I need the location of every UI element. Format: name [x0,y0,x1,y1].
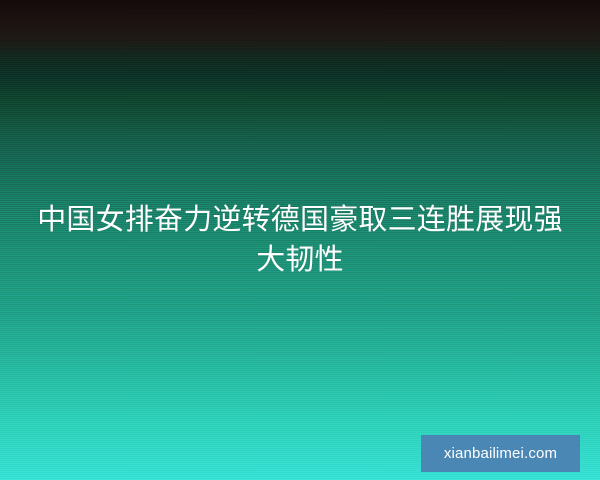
watermark-label: xianbailimei.com [444,446,557,461]
headline-block: 中国女排奋力逆转德国豪取三连胜展现强大韧性 [0,200,600,280]
watermark-badge[interactable]: xianbailimei.com [421,435,580,472]
thumbnail-canvas: 中国女排奋力逆转德国豪取三连胜展现强大韧性 xianbailimei.com [0,0,600,480]
headline-title: 中国女排奋力逆转德国豪取三连胜展现强大韧性 [26,200,574,280]
